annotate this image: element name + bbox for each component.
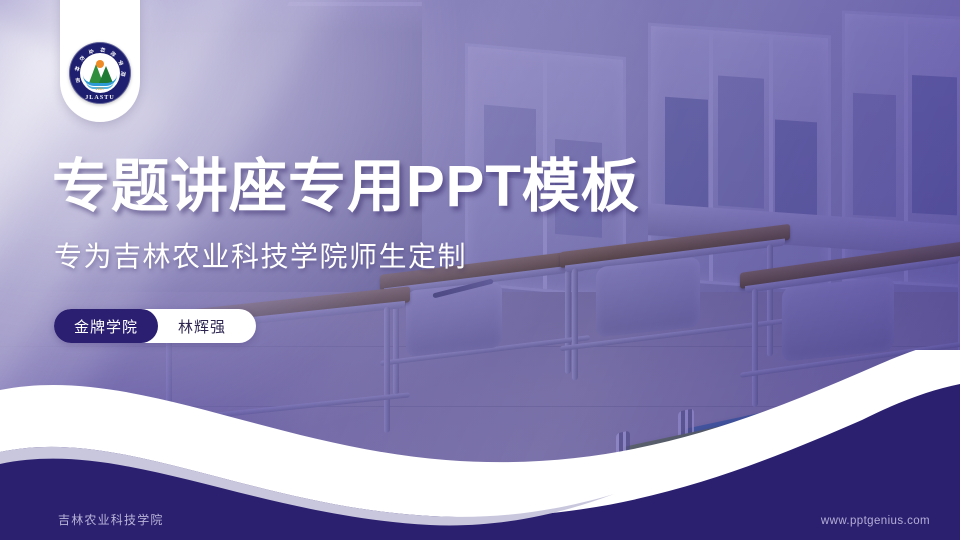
logo-sun-icon bbox=[96, 60, 104, 68]
logo-founding-year: 1907 bbox=[69, 87, 131, 91]
presenter-badge[interactable]: 金牌学院 林辉强 bbox=[54, 309, 256, 343]
university-logo-icon: 吉林农业科技学院 1907 JLASTU bbox=[69, 42, 131, 104]
footer-institution: 吉林农业科技学院 bbox=[58, 511, 164, 528]
badge-presenter-name: 林辉强 bbox=[158, 309, 252, 343]
footer-website[interactable]: www.pptgenius.com bbox=[821, 515, 930, 527]
page-subtitle: 专为吉林农业科技学院师生定制 bbox=[54, 243, 467, 271]
page-title: 专题讲座专用PPT模板 bbox=[52, 158, 640, 216]
ppt-cover-slide: 吉林农业科技学院 1907 JLASTU 专题讲座专用PPT模板 专为吉林农业科… bbox=[0, 0, 960, 540]
badge-tag[interactable]: 金牌学院 bbox=[54, 309, 158, 343]
logo-plaque: 吉林农业科技学院 1907 JLASTU bbox=[60, 0, 140, 122]
logo-acronym: JLASTU bbox=[69, 95, 131, 101]
logo-ring-char: 院 bbox=[120, 70, 126, 78]
